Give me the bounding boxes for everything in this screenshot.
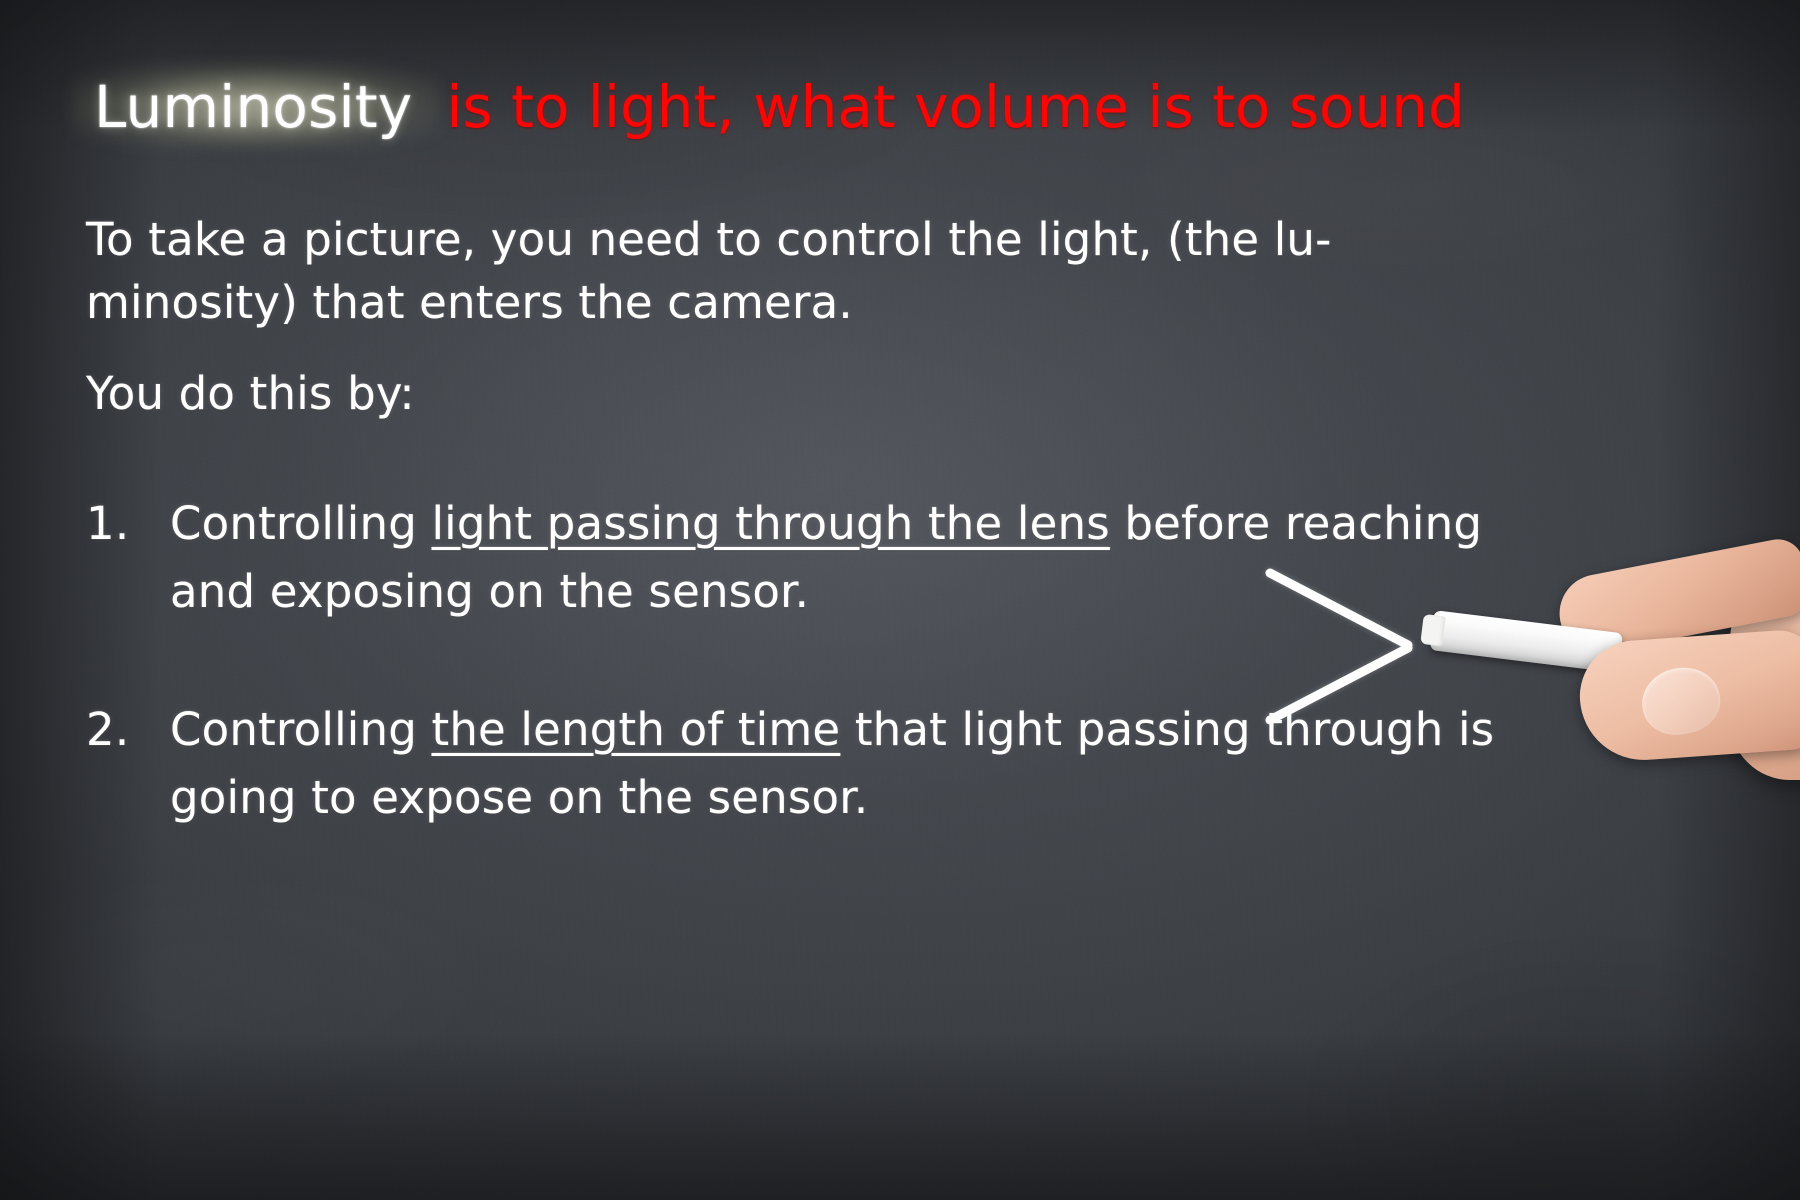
list-item-text-before: Controlling [170,497,431,550]
intro-paragraph: To take a picture, you need to control t… [86,208,1486,334]
list-item-body: Controlling the length of time that ligh… [170,696,1506,831]
intro-paragraph-line-2: minosity) that enters the camera. [86,271,1486,334]
lead-in-line-1: You do this by: [86,362,1486,425]
intro-paragraph-line-1: To take a picture, you need to control t… [86,208,1486,271]
list-item: 2. Controlling the length of time that l… [86,696,1506,831]
thumb [1576,628,1800,764]
list-item-number: 1. [86,490,170,558]
list-item-number: 2. [86,696,170,764]
list-item: 1. Controlling light passing through the… [86,490,1506,625]
list-item-text-before: Controlling [170,703,431,756]
chalkboard-slide: Luminosity is to light, what volume is t… [0,0,1800,1200]
slide-title: Luminosity is to light, what volume is t… [88,78,1465,136]
title-remainder: is to light, what volume is to sound [446,78,1465,136]
list-item-underlined-phrase: the length of time [431,703,840,756]
index-finger [1553,535,1800,659]
slide-content: Luminosity is to light, what volume is t… [0,0,1800,1200]
hand-palm [1730,580,1800,780]
title-keyword: Luminosity [94,73,412,141]
list-item-underlined-phrase: light passing through the lens [431,497,1109,550]
list-item-body: Controlling light passing through the le… [170,490,1506,625]
lead-in-paragraph: You do this by: [86,362,1486,425]
title-keyword-highlight: Luminosity [88,78,426,136]
thumb-nail [1636,661,1726,742]
